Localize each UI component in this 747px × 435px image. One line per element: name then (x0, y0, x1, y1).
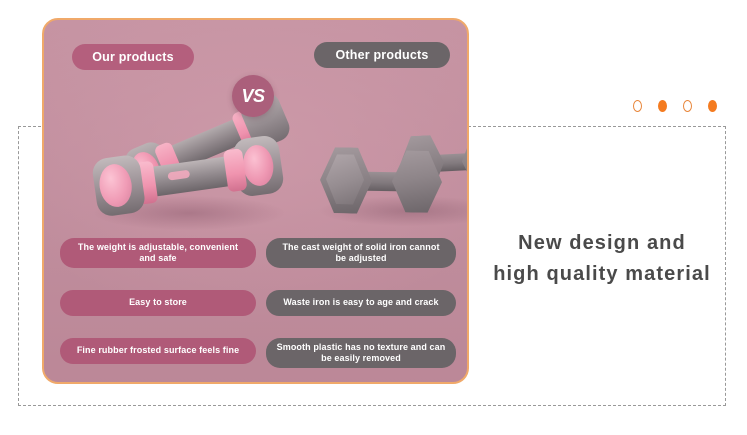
front-hex-dumbbell (319, 147, 442, 215)
banner-root: Our products Other products VS (0, 0, 747, 435)
headline-line-1: New design and (478, 228, 726, 259)
dot-indicator-1 (633, 100, 642, 112)
pink-adjustable-dumbbells-icon (88, 116, 288, 236)
list-item: The cast weight of solid iron cannot be … (266, 238, 456, 268)
our-products-feature-list: The weight is adjustable, convenient and… (60, 238, 256, 364)
hex-weight-right (391, 150, 442, 213)
dot-indicator-row (633, 100, 717, 112)
list-item: Smooth plastic has no texture and can be… (266, 338, 456, 368)
list-item: Fine rubber frosted surface feels fine (60, 338, 256, 364)
other-products-feature-list: The cast weight of solid iron cannot be … (266, 238, 456, 368)
dot-indicator-2 (658, 100, 667, 112)
comparison-card: Our products Other products VS (42, 18, 469, 384)
versus-badge: VS (232, 75, 274, 117)
dot-indicator-3 (683, 100, 692, 112)
headline-line-2: high quality material (478, 259, 726, 290)
gray-hex-dumbbells-icon (316, 132, 469, 232)
dot-indicator-4 (708, 100, 717, 112)
headline: New design and high quality material (478, 228, 726, 290)
list-item: Easy to store (60, 290, 256, 316)
side-panel: New design and high quality material (478, 0, 747, 435)
list-item: The weight is adjustable, convenient and… (60, 238, 256, 268)
list-item: Waste iron is easy to age and crack (266, 290, 456, 316)
